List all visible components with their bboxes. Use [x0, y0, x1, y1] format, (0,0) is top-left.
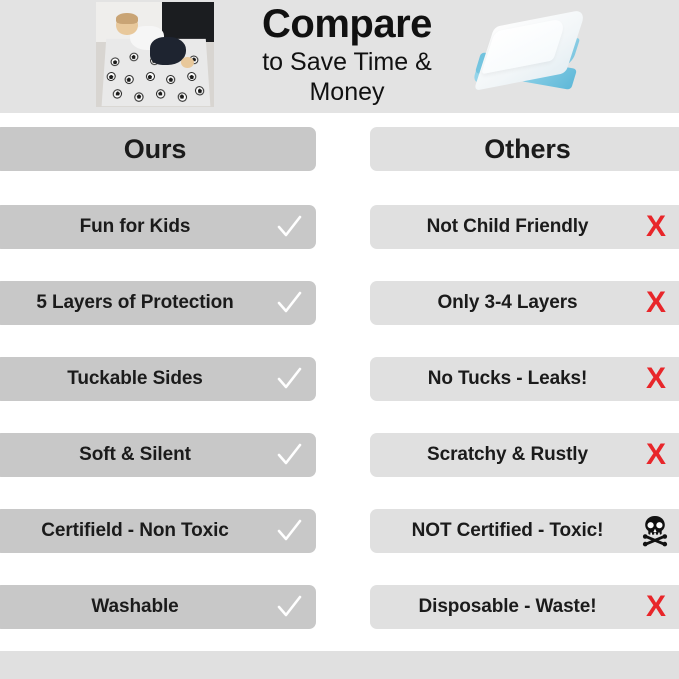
soccer-ball-icon — [156, 89, 165, 98]
soccer-ball-icon — [111, 58, 120, 67]
check-icon — [274, 440, 304, 470]
ours-feature-label: Washable — [91, 596, 178, 618]
comparison-row: Washable Disposable - Waste! X — [0, 569, 679, 645]
compare-title-line2: to Save Time & — [236, 47, 458, 77]
soccer-ball-icon — [113, 89, 123, 98]
check-icon — [274, 516, 304, 546]
cross-icon: X — [640, 287, 672, 319]
soccer-ball-icon — [177, 92, 187, 101]
others-feature-cell: Disposable - Waste! — [370, 585, 679, 629]
compare-title-line3: Money — [236, 77, 458, 107]
others-feature-label: No Tucks - Leaks! — [428, 368, 588, 390]
column-header-others: Others — [370, 127, 679, 171]
cross-icon: X — [640, 439, 672, 471]
column-header-row: Ours Others — [0, 113, 679, 189]
photo-scene — [96, 2, 214, 107]
ours-feature-label: Tuckable Sides — [67, 368, 203, 390]
soccer-ball-icon — [107, 72, 117, 81]
ours-feature-cell: Soft & Silent — [0, 433, 316, 477]
ours-feature-label: Soft & Silent — [79, 444, 191, 466]
others-header-label: Others — [484, 134, 570, 165]
soccer-ball-icon — [130, 52, 139, 61]
baby-foot — [181, 57, 194, 68]
others-feature-label: NOT Certified - Toxic! — [412, 520, 604, 542]
skull-and-crossbones-icon — [638, 513, 672, 547]
soccer-ball-icon — [195, 86, 205, 95]
soccer-ball-icon — [124, 75, 133, 84]
others-feature-cell: Only 3-4 Layers — [370, 281, 679, 325]
soccer-ball-icon — [146, 72, 155, 81]
comparison-row: Tuckable Sides No Tucks - Leaks! X — [0, 341, 679, 417]
header-band: Compare to Save Time & Money — [0, 0, 679, 113]
ours-feature-label: 5 Layers of Protection — [36, 292, 233, 314]
comparison-grid: Ours Others Fun for Kids Not Child Frien… — [0, 113, 679, 645]
others-feature-cell: No Tucks - Leaks! — [370, 357, 679, 401]
others-feature-label: Not Child Friendly — [427, 216, 589, 238]
ours-feature-cell: Fun for Kids — [0, 205, 316, 249]
ours-feature-cell: Tuckable Sides — [0, 357, 316, 401]
ours-header-label: Ours — [124, 134, 187, 165]
ours-feature-label: Certifield - Non Toxic — [41, 520, 228, 542]
others-feature-cell: Not Child Friendly — [370, 205, 679, 249]
column-header-ours: Ours — [0, 127, 316, 171]
cross-icon: X — [640, 363, 672, 395]
soccer-ball-icon — [167, 75, 176, 84]
comparison-row: Fun for Kids Not Child Friendly X — [0, 189, 679, 265]
compare-title: Compare to Save Time & Money — [236, 1, 458, 107]
ours-feature-cell: 5 Layers of Protection — [0, 281, 316, 325]
compare-title-line1: Compare — [236, 1, 458, 47]
comparison-row: 5 Layers of Protection Only 3-4 Layers X — [0, 265, 679, 341]
check-icon — [274, 288, 304, 318]
baby-hair — [116, 13, 138, 24]
others-feature-label: Disposable - Waste! — [419, 596, 597, 618]
ours-feature-cell: Certifield - Non Toxic — [0, 509, 316, 553]
others-product-photo — [466, 2, 597, 107]
ours-product-photo — [96, 2, 214, 107]
cross-icon: X — [640, 591, 672, 623]
others-feature-cell: NOT Certified - Toxic! — [370, 509, 679, 553]
soccer-ball-icon — [135, 92, 145, 101]
check-icon — [274, 364, 304, 394]
footer-band — [0, 651, 679, 679]
others-feature-cell: Scratchy & Rustly — [370, 433, 679, 477]
cross-icon: X — [640, 211, 672, 243]
ours-feature-label: Fun for Kids — [80, 216, 191, 238]
others-feature-label: Scratchy & Rustly — [427, 444, 588, 466]
comparison-row: Soft & Silent Scratchy & Rustly X — [0, 417, 679, 493]
soccer-ball-icon — [187, 72, 196, 81]
others-feature-label: Only 3-4 Layers — [437, 292, 577, 314]
check-icon — [274, 592, 304, 622]
ours-feature-cell: Washable — [0, 585, 316, 629]
comparison-row: Certifield - Non Toxic NOT Certified - T… — [0, 493, 679, 569]
check-icon — [274, 212, 304, 242]
